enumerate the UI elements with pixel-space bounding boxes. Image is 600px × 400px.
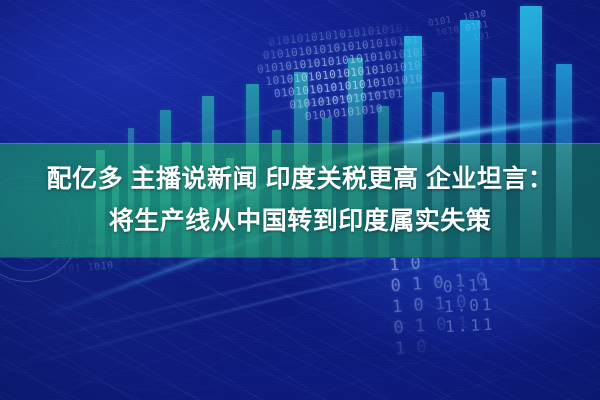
binary-digits-top: 01010101010101010101 0101010101010101010…	[254, 19, 434, 127]
decimal-ghost-digits: 0.11 1.01 1.11	[442, 275, 496, 338]
headline-line-1: 配亿多 主播说新闻 印度关税更高 企业坦言：	[0, 158, 600, 200]
headline-line-2: 将生产线从中国转到印度属实失策	[0, 200, 600, 242]
headline: 配亿多 主播说新闻 印度关税更高 企业坦言： 将生产线从中国转到印度属实失策	[0, 158, 600, 242]
banner-image: 01010101010101010101 0101010101010101010…	[0, 0, 600, 400]
